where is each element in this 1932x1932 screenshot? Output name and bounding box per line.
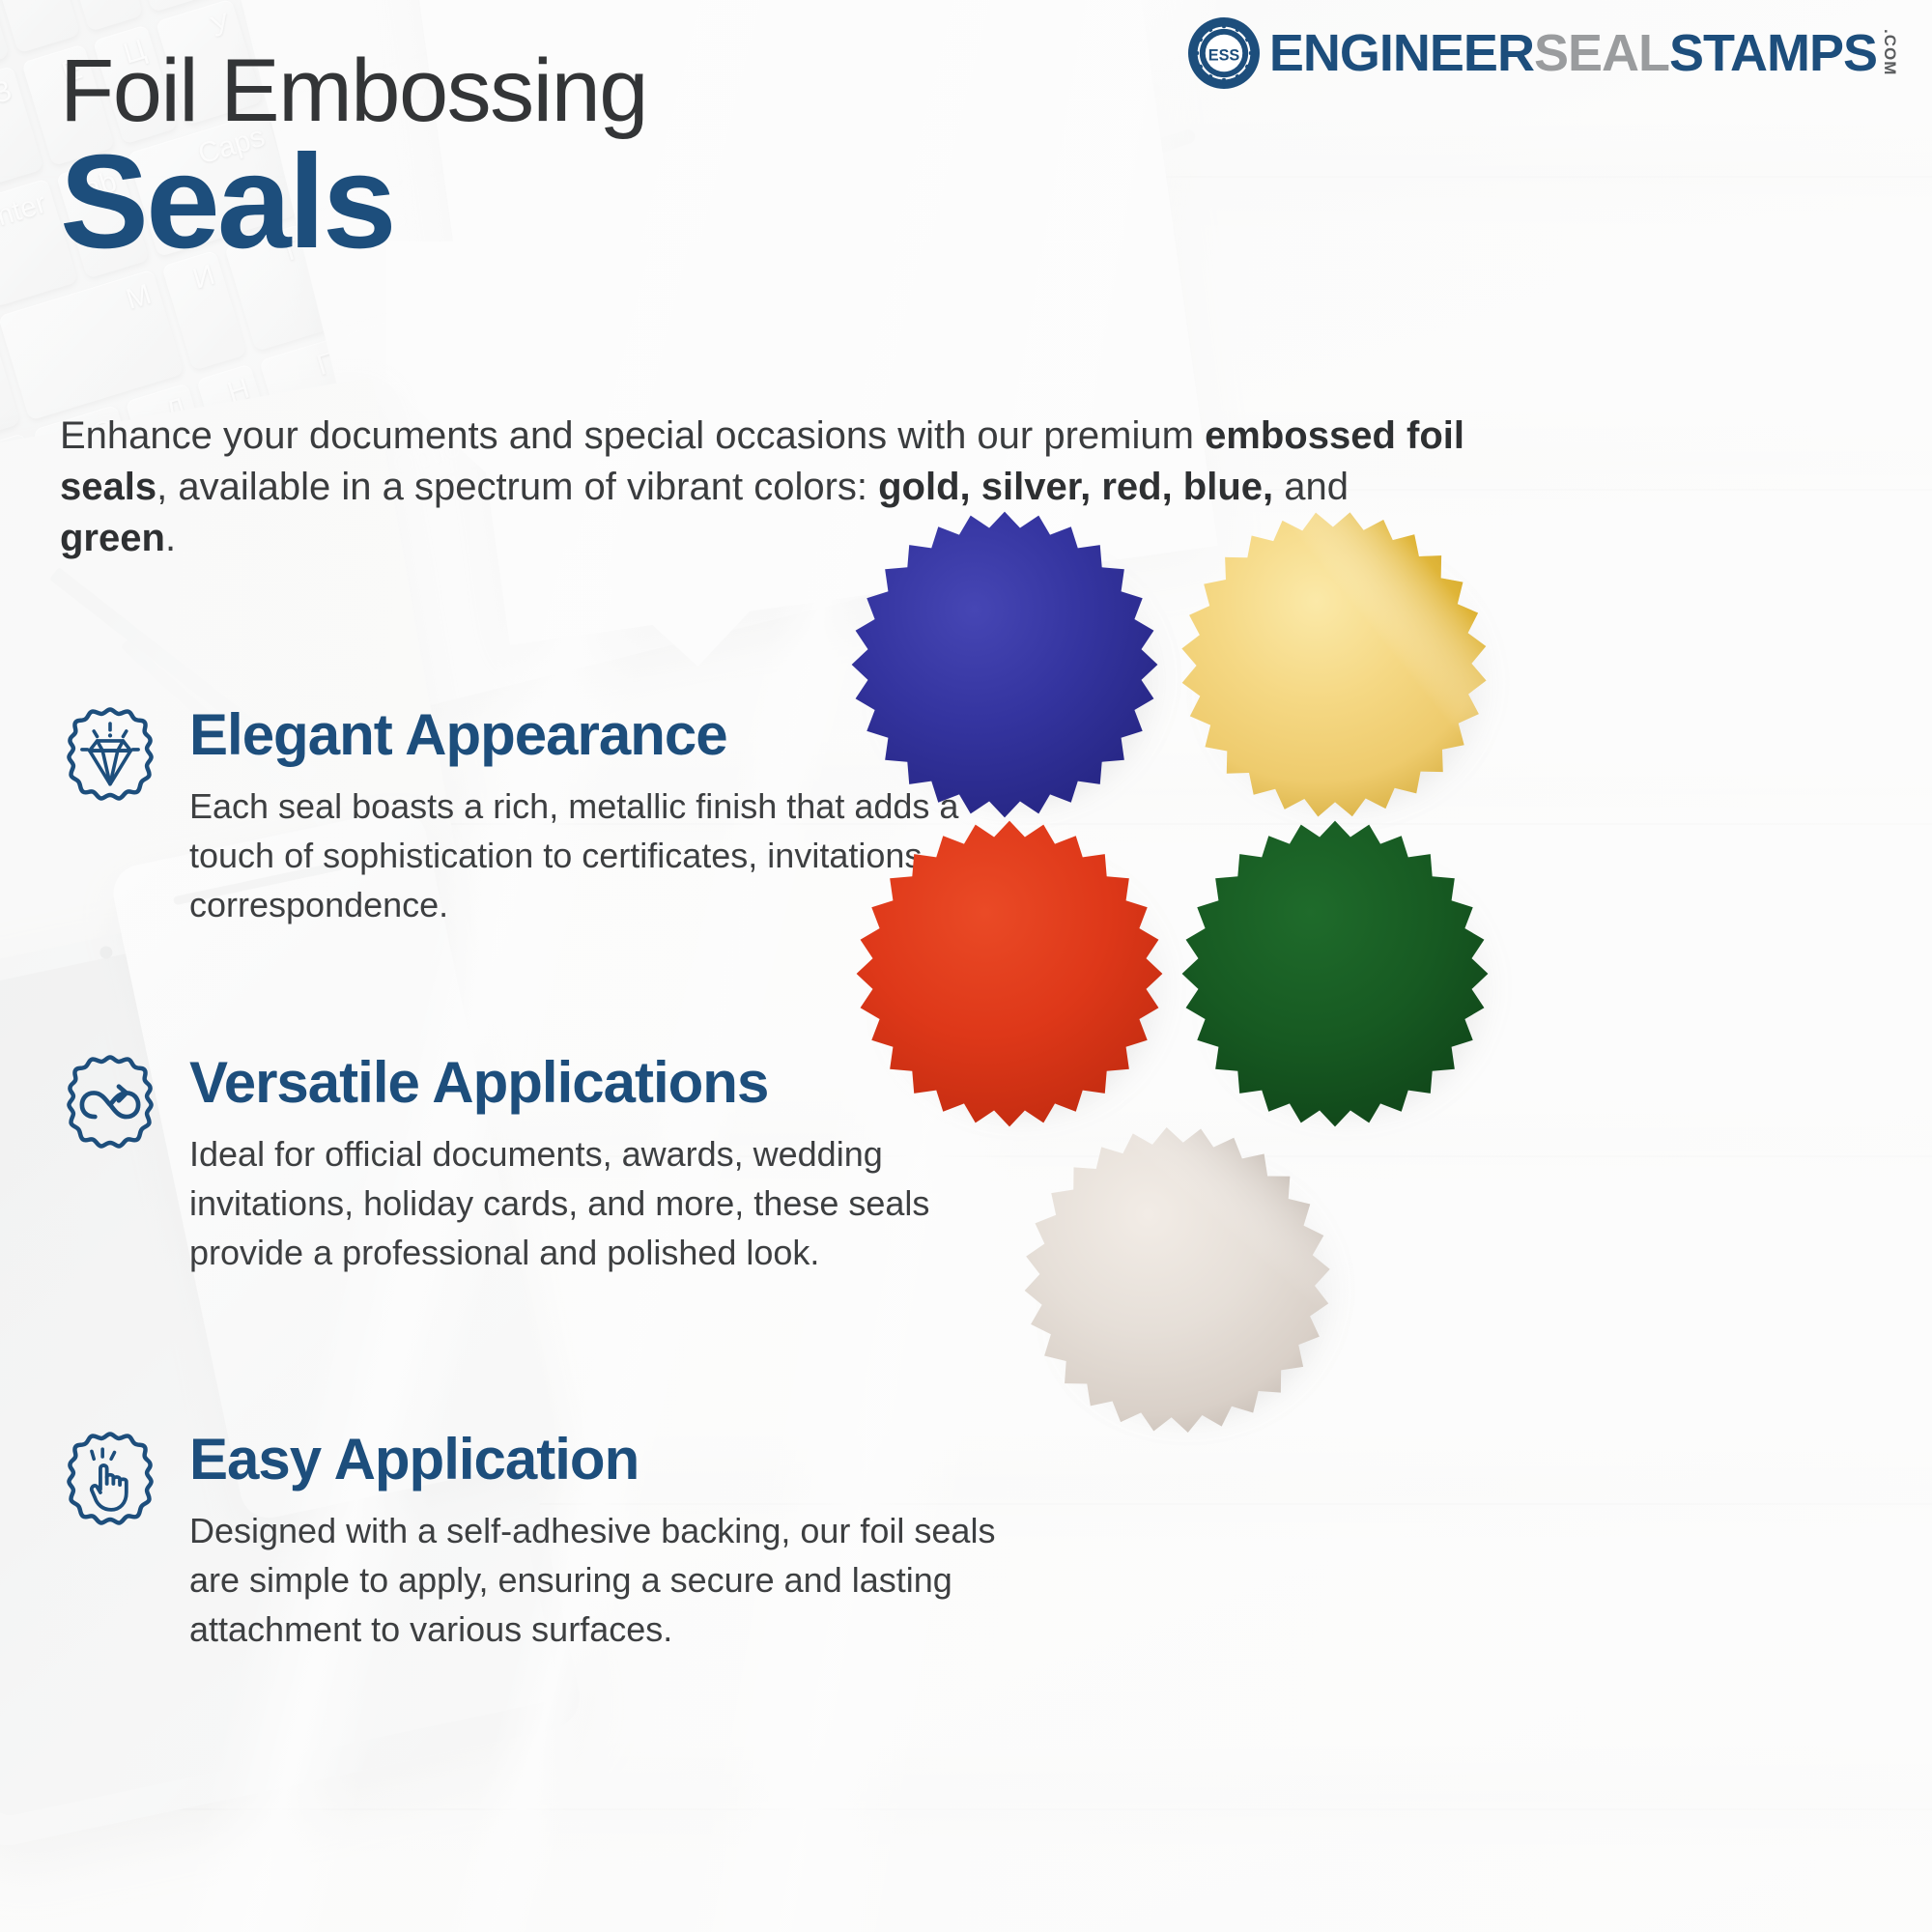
brand-logo[interactable]: ESS ENGINEER SEAL STAMPS .COM: [1188, 17, 1899, 89]
feature-body: Ideal for official documents, awards, we…: [189, 1129, 1039, 1277]
feature-title: Versatile Applications: [189, 1053, 945, 1112]
intro-bold-3: green: [60, 517, 165, 559]
feature-title: Easy Application: [189, 1430, 945, 1489]
intro-text-2: , available in a spectrum of vibrant col…: [156, 466, 878, 508]
diamond-gem-icon: [56, 705, 164, 813]
foil-seal-green: [1180, 819, 1490, 1109]
foil-seal-blue: [850, 510, 1159, 800]
foil-seal-silver: [1012, 1115, 1341, 1426]
feature-versatile-applications: Versatile Applications Ideal for officia…: [56, 1053, 945, 1278]
feature-body: Designed with a self-adhesive backing, o…: [189, 1506, 1039, 1654]
ess-gear-badge-icon: ESS: [1188, 17, 1260, 89]
feature-easy-application: Easy Application Designed with a self-ad…: [56, 1430, 945, 1655]
intro-text-1: Enhance your documents and special occas…: [60, 414, 1205, 457]
foil-seal-red: [855, 819, 1164, 1109]
logo-word-seal: SEAL: [1534, 30, 1669, 78]
logo-tld: .COM: [1880, 29, 1899, 75]
intro-text-4: .: [165, 517, 176, 559]
hand-tap-icon: [56, 1430, 164, 1538]
infinity-arrow-icon: [56, 1053, 164, 1161]
feature-elegant-appearance: Elegant Appearance Each seal boasts a ri…: [56, 705, 945, 930]
ess-monogram: ESS: [1208, 46, 1240, 64]
intro-text-3: and: [1273, 466, 1349, 508]
page-title-line2: Seals: [60, 135, 394, 269]
feature-title: Elegant Appearance: [189, 705, 945, 764]
logo-word-engineer: ENGINEER: [1269, 30, 1534, 78]
foil-seal-gold: [1166, 495, 1504, 815]
logo-word-stamps: STAMPS: [1669, 30, 1877, 78]
page-title-line1: Foil Embossing: [60, 46, 647, 135]
